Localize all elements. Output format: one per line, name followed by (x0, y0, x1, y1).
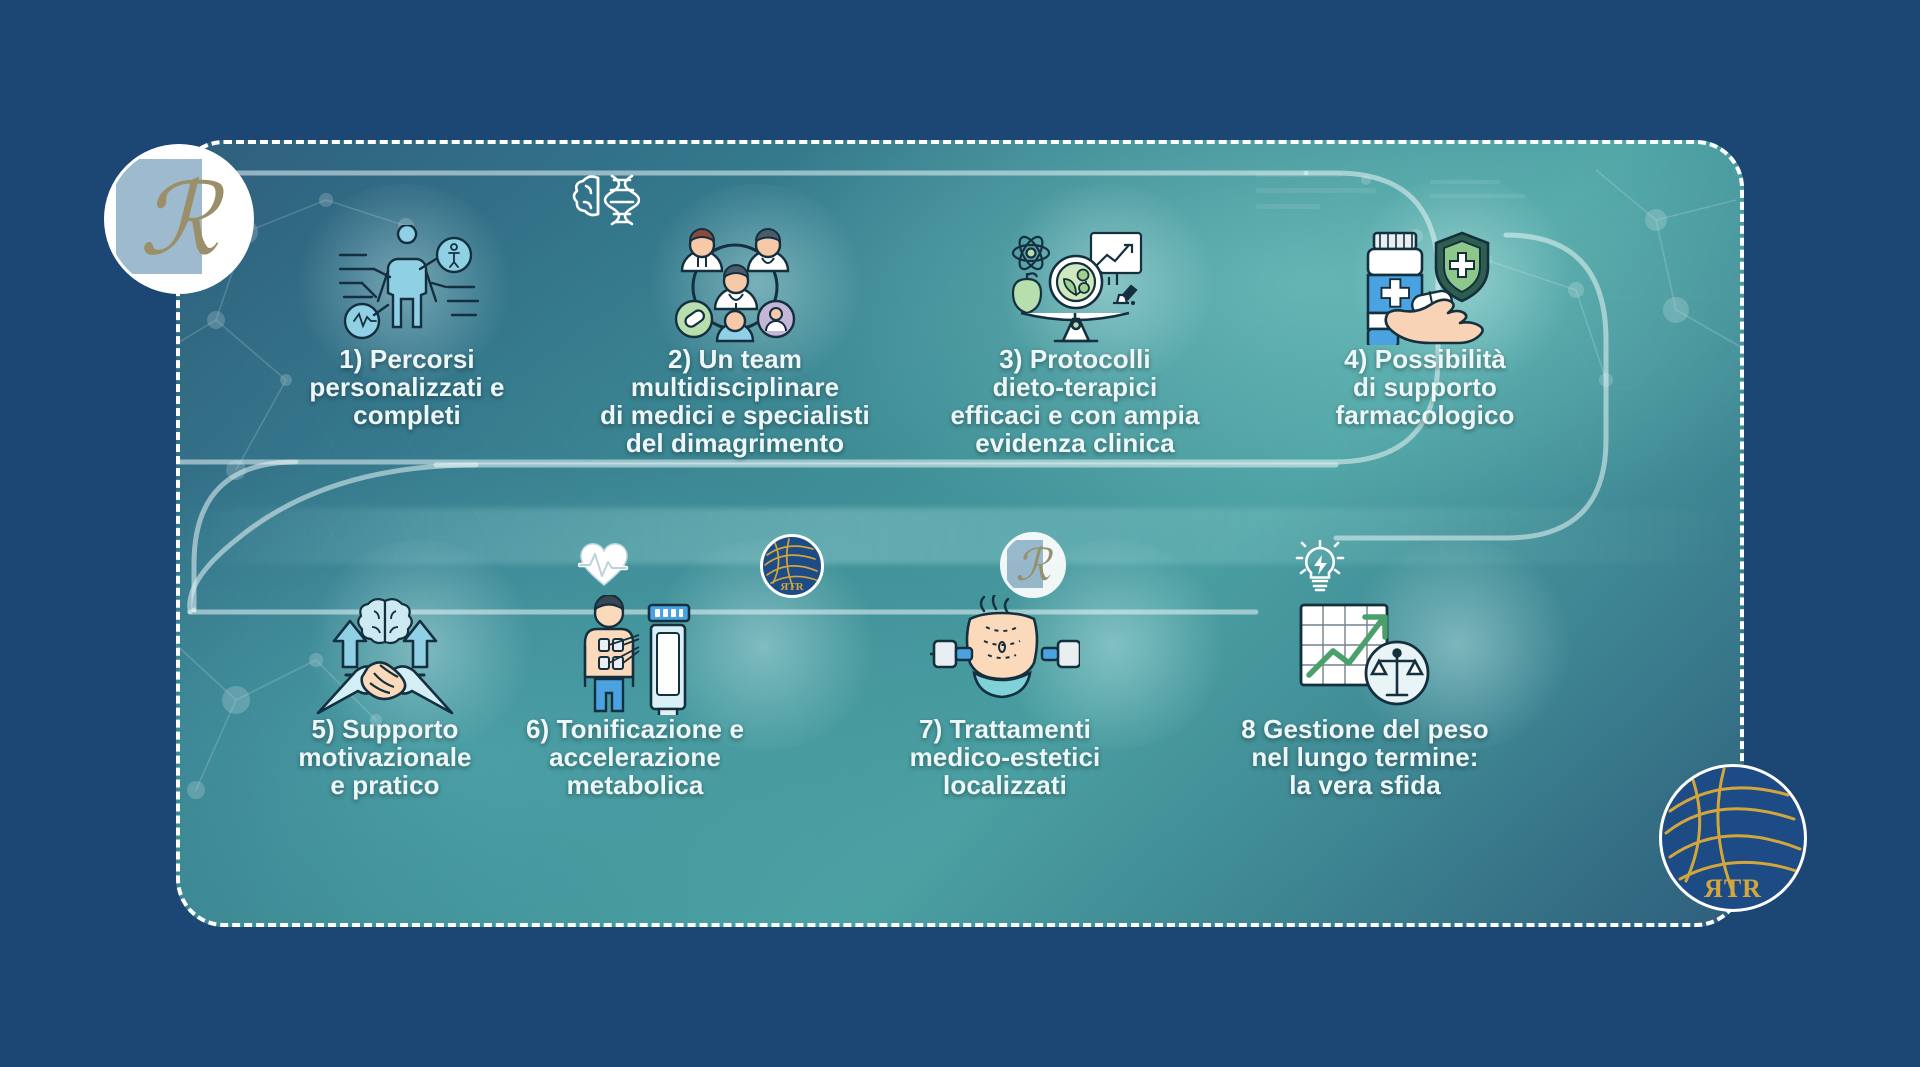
brain-dna-icon (572, 172, 640, 235)
feature-3-label: 3) Protocolli dieto-terapici efficaci e … (930, 345, 1220, 457)
logo-r-monogram[interactable]: ℛ (104, 144, 254, 294)
feature-2-label: 2) Un team multidisciplinare di medici e… (570, 345, 900, 457)
feature-item-8[interactable]: 8 Gestione del peso nel lungo termine: l… (1210, 595, 1520, 799)
feature-2-icon-wrap (570, 225, 900, 345)
medication-hand-shield-icon (1350, 225, 1500, 345)
feature-item-1[interactable]: 1) Percorsi personalizzati e completi (262, 225, 552, 429)
feature-8-icon-wrap (1210, 595, 1520, 715)
aesthetic-treatment-icon (930, 595, 1080, 715)
center-light-band (176, 508, 1744, 564)
feature-item-3[interactable]: 3) Protocolli dieto-terapici efficaci e … (930, 225, 1220, 457)
weight-chart-scale-icon (1295, 595, 1435, 715)
nutrition-science-scale-icon (1005, 225, 1145, 345)
feature-5-icon-wrap (240, 595, 530, 715)
feature-6-icon-wrap (490, 595, 780, 715)
feature-7-icon-wrap (860, 595, 1150, 715)
body-analysis-icon (332, 225, 482, 345)
logo-rtr-globe[interactable]: ЯTR (1659, 764, 1807, 912)
feature-item-2[interactable]: 2) Un team multidisciplinare di medici e… (570, 225, 900, 457)
monogram-letter: ℛ (107, 147, 251, 291)
infographic-stage: 1) Percorsi personalizzati e completi (0, 0, 1920, 1067)
feature-7-label: 7) Trattamenti medico-estetici localizza… (860, 715, 1150, 799)
feature-item-5[interactable]: 5) Supporto motivazionale e pratico (240, 595, 530, 799)
feature-4-icon-wrap (1280, 225, 1570, 345)
feature-5-label: 5) Supporto motivazionale e pratico (240, 715, 530, 799)
feature-1-label: 1) Percorsi personalizzati e completi (262, 345, 552, 429)
motivation-handshake-brain-icon (310, 595, 460, 715)
feature-4-label: 4) Possibilità di supporto farmacologico (1280, 345, 1570, 429)
feature-1-icon-wrap (262, 225, 552, 345)
feature-3-icon-wrap (930, 225, 1220, 345)
feature-6-label: 6) Tonificazione e accelerazione metabol… (490, 715, 780, 799)
body-toning-machine-icon (565, 595, 705, 715)
svg-text:ЯTR: ЯTR (1704, 874, 1762, 903)
feature-8-label: 8 Gestione del peso nel lungo termine: l… (1210, 715, 1520, 799)
feature-item-4[interactable]: 4) Possibilità di supporto farmacologico (1280, 225, 1570, 429)
feature-item-7[interactable]: 7) Trattamenti medico-estetici localizza… (860, 595, 1150, 799)
medical-team-icon (670, 225, 800, 345)
feature-item-6[interactable]: 6) Tonificazione e accelerazione metabol… (490, 595, 780, 799)
